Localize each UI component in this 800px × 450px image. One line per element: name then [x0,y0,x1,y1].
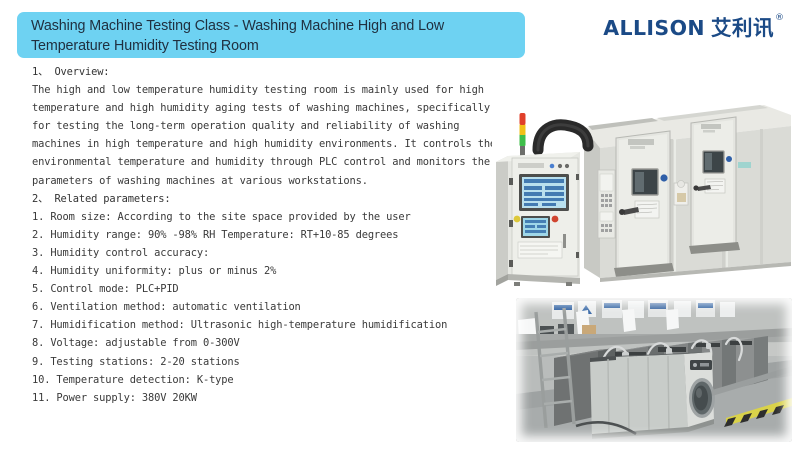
photo-washing-machine-line [516,298,792,442]
spec-line: environmental temperature and humidity t… [32,153,500,171]
photo-testing-chamber [492,82,794,288]
brand-logo: ALLISON 艾利讯 ® [603,17,784,39]
spec-line: temperature and high humidity aging test… [32,99,500,117]
spec-line: machines in high temperature and high hu… [32,135,500,153]
registered-trademark-icon: ® [775,13,784,23]
spec-line: 6. Ventilation method: automatic ventila… [32,298,500,316]
spec-line: 1. Room size: According to the site spac… [32,208,500,226]
spec-line: 5. Control mode: PLC+PID [32,280,500,298]
spec-line: The high and low temperature humidity te… [32,81,500,99]
specification-text-block: 1、 Overview:The high and low temperature… [32,63,500,407]
testing-chamber-illustration [492,82,794,288]
spec-line: 11. Power supply: 380V 20KW [32,389,500,407]
brand-name-cjk: 艾利讯 [711,17,774,39]
spec-line: 8. Voltage: adjustable from 0-300V [32,334,500,352]
spec-line: for testing the long-term operation qual… [32,117,500,135]
brand-name-latin: ALLISON [603,17,705,39]
spec-line: 1、 Overview: [32,63,500,81]
spec-line: 4. Humidity uniformity: plus or minus 2% [32,262,500,280]
spec-line: 2. Humidity range: 90% -98% RH Temperatu… [32,226,500,244]
spec-line: 10. Temperature detection: K-type [32,371,500,389]
washing-machine-line-illustration [516,298,792,442]
spec-line: 3. Humidity control accuracy: [32,244,500,262]
page-title: Washing Machine Testing Class - Washing … [31,17,511,56]
title-banner: Washing Machine Testing Class - Washing … [17,12,525,58]
spec-line: 9. Testing stations: 2-20 stations [32,353,500,371]
page-header: Washing Machine Testing Class - Washing … [0,0,800,62]
spec-line: 7. Humidification method: Ultrasonic hig… [32,316,500,334]
spec-line: parameters of washing machines at variou… [32,172,500,190]
spec-line: 2、 Related parameters: [32,190,500,208]
